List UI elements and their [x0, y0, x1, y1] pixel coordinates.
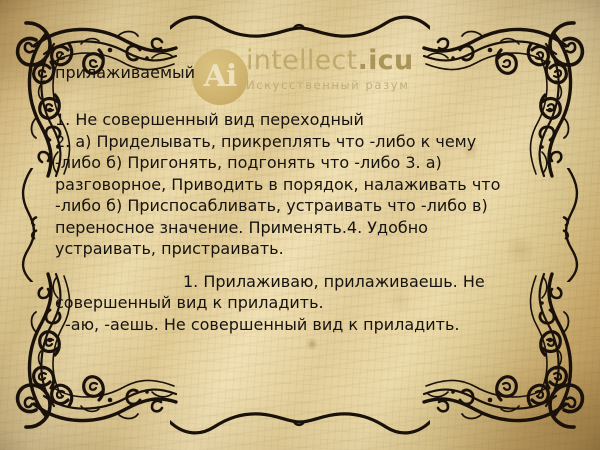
sense-line: 2. а) Приделывать, прикреплять что -либо… [55, 131, 525, 153]
sense-line: переносное значение. Применять.4. Удобно [55, 217, 525, 239]
dictionary-entry-card: Ai intellect.icu Искусственный разум при… [0, 0, 600, 450]
conjugation-line: 1. Прилаживаю, прилаживаешь. Не [55, 271, 525, 293]
conjugation-block: 1. Прилаживаю, прилаживаешь. Не совершен… [55, 271, 525, 336]
sense-line: -либо б) Приспосабливать, устраивать что… [55, 195, 525, 217]
sense-line: разговорное, Приводить в порядок, налажи… [55, 174, 525, 196]
sense-line: -либо б) Пригонять, подгонять что -либо … [55, 152, 525, 174]
conjugation-line: -аю, -аешь. Не совершенный вид к прилади… [55, 314, 525, 336]
dictionary-article: прилаживаемый 1. Не совершенный вид пере… [55, 62, 525, 335]
conjugation-line: совершенный вид к приладить. [55, 292, 525, 314]
sense-line: 1. Не совершенный вид переходный [55, 109, 525, 131]
sense-line: устраивать, пристраивать. [55, 238, 525, 260]
headword: прилаживаемый [55, 62, 525, 83]
sense-definitions: 1. Не совершенный вид переходный 2. а) П… [55, 109, 525, 260]
